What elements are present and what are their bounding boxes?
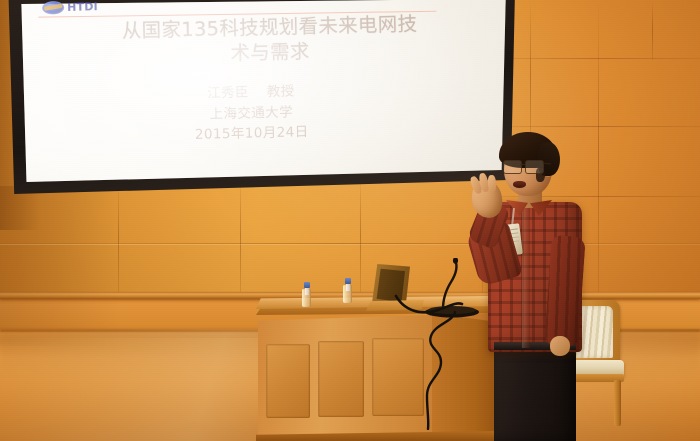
bottle-neck: [346, 284, 350, 291]
slide-logo: HTDI: [42, 0, 98, 14]
presenter-trousers: [494, 346, 576, 441]
wall-seam-vertical: [240, 176, 241, 298]
slide-logo-text: HTDI: [67, 1, 98, 13]
water-bottle: [302, 281, 311, 307]
podium-panel: [266, 344, 310, 418]
power-cable-hanging: [415, 310, 461, 430]
slide-title: 从国家135科技规划看未来电网技 术与需求: [60, 11, 479, 71]
wall-seam-vertical: [118, 178, 119, 298]
wall-seam-horizontal: [500, 126, 700, 127]
presenter-left-hand: [550, 336, 570, 356]
podium-panel: [318, 341, 364, 417]
eyeglasses-lens-left: [503, 160, 522, 174]
bottle-cap: [345, 278, 351, 284]
chair-leg: [614, 380, 621, 426]
presenter-shirt-placket: [522, 206, 530, 348]
presenter: [466, 128, 606, 441]
lecture-hall-scene: HTDI 从国家135科技规划看未来电网技 术与需求 江秀臣教授 上海交通大学 …: [0, 0, 700, 441]
water-bottle: [343, 277, 352, 303]
bottle-neck: [305, 288, 309, 295]
eyeglasses-icon: [502, 160, 550, 173]
projection-screen: HTDI 从国家135科技规划看未来电网技 术与需求 江秀臣教授 上海交通大学 …: [6, 0, 518, 194]
eyeglasses-bridge: [520, 164, 525, 165]
wall-seam-vertical: [652, 0, 653, 60]
slide-subtitle-block: 江秀臣教授 上海交通大学 2015年10月24日: [86, 78, 417, 148]
presenter-finger: [487, 175, 496, 193]
slide-presenter-name: 江秀臣: [207, 85, 249, 102]
htdi-oval-logo-icon: [42, 1, 64, 15]
slide-presenter-role: 教授: [267, 83, 295, 100]
presentation-slide: HTDI 从国家135科技规划看未来电网技 术与需求 江秀臣教授 上海交通大学 …: [24, 0, 505, 180]
presenter-mouth: [513, 181, 526, 188]
bottle-cap: [304, 282, 310, 288]
wall-seam-horizontal: [500, 58, 700, 59]
